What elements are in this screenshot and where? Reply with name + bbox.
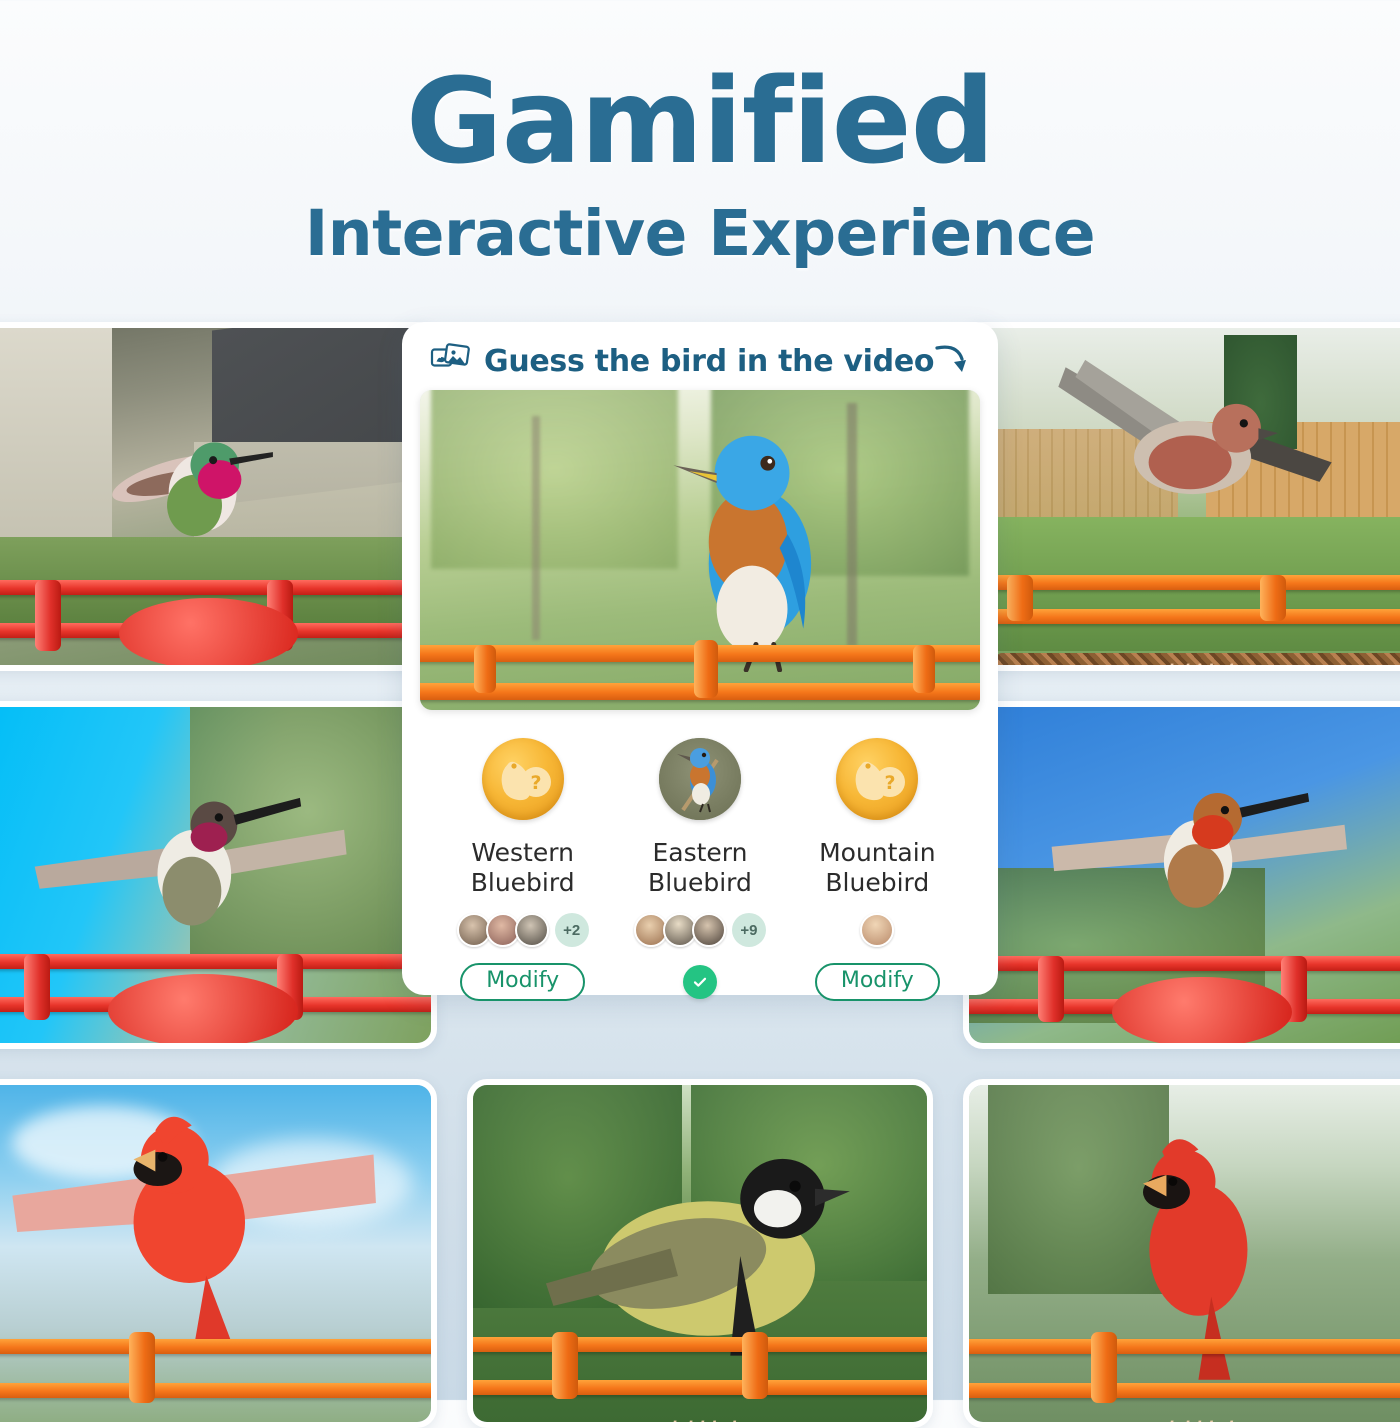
gallery-photo-top-left[interactable]	[0, 322, 437, 671]
bird-option-western-bluebird[interactable]: ? Western Bluebird +2 Modify	[438, 738, 608, 1001]
curved-down-arrow-icon	[934, 340, 974, 387]
voter-avatars[interactable]: +9	[615, 911, 785, 949]
brand-tag: richbird	[661, 1418, 739, 1428]
gallery-photo-bottom-left[interactable]	[0, 1079, 437, 1428]
hummingbird-subject	[3, 761, 376, 970]
bird-option-label: Mountain Bluebird	[792, 838, 962, 897]
gallery-photo-bottom-right[interactable]: richbird	[963, 1079, 1400, 1428]
gallery-photo-middle-left[interactable]	[0, 701, 437, 1050]
bird-name-line1: Eastern	[652, 838, 747, 867]
orange-feeder: richbird	[467, 1328, 934, 1428]
bird-name-line1: Western	[471, 838, 574, 867]
gallery-photo-middle-right[interactable]	[963, 701, 1400, 1050]
selected-check-button[interactable]	[683, 965, 717, 999]
bird-option-mountain-bluebird[interactable]: ? Mountain Bluebird Modify	[792, 738, 962, 1001]
video-player[interactable]	[420, 390, 980, 710]
avatar	[860, 913, 894, 947]
svg-text:?: ?	[885, 772, 896, 794]
bird-options-list: ? Western Bluebird +2 Modify	[420, 738, 980, 1001]
brand-tag: richbird	[1158, 1418, 1236, 1428]
gallery-photo-top-right[interactable]: richbird	[963, 322, 1400, 671]
brand-tag: richbird	[1158, 661, 1236, 671]
gallery-photo-bottom-center[interactable]: richbird	[467, 1079, 934, 1428]
unknown-bird-coin-icon: ?	[482, 738, 564, 820]
red-feeder	[0, 949, 437, 1049]
red-feeder	[963, 949, 1400, 1049]
cardinal-subject	[0, 1106, 403, 1348]
orange-feeder: richbird	[963, 1328, 1400, 1428]
eastern-bluebird-thumbnail	[659, 738, 741, 820]
avatar-overflow-count: +9	[732, 913, 766, 947]
guess-the-bird-card: Guess the bird in the video	[402, 322, 998, 995]
orange-feeder	[0, 1328, 437, 1428]
avatar	[515, 913, 549, 947]
photo-cards-icon	[430, 342, 472, 381]
tree-trunk-shape	[532, 416, 540, 640]
bird-option-eastern-bluebird[interactable]: Eastern Bluebird +9	[615, 738, 785, 999]
modify-button[interactable]: Modify	[815, 963, 940, 1001]
bird-name-line1: Mountain	[819, 838, 935, 867]
card-header: Guess the bird in the video	[420, 338, 980, 384]
voter-avatars[interactable]: +2	[438, 911, 608, 949]
hero-heading: Gamified Interactive Experience	[0, 0, 1400, 265]
page-title: Gamified	[0, 62, 1400, 180]
tree-canopy-shape	[431, 390, 677, 569]
svg-text:?: ?	[530, 772, 541, 794]
avatar-overflow-count: +2	[555, 913, 589, 947]
unknown-bird-coin-icon: ?	[836, 738, 918, 820]
hummingbird-subject	[94, 402, 303, 564]
house-finch-subject	[1024, 355, 1351, 550]
eastern-bluebird-subject	[644, 416, 868, 672]
bird-name-line2: Bluebird	[648, 868, 752, 897]
red-feeder	[0, 570, 437, 670]
modify-button[interactable]: Modify	[460, 963, 585, 1001]
bird-name-line2: Bluebird	[825, 868, 929, 897]
bird-option-label: Eastern Bluebird	[615, 838, 785, 897]
card-title: Guess the bird in the video	[484, 344, 934, 379]
hummingbird-subject	[1015, 754, 1379, 949]
voter-avatars[interactable]	[792, 911, 962, 949]
orange-feeder	[420, 640, 980, 710]
orange-feeder: richbird	[963, 570, 1400, 670]
page-subtitle: Interactive Experience	[0, 202, 1400, 265]
bird-option-label: Western Bluebird	[438, 838, 608, 897]
bird-name-line2: Bluebird	[471, 868, 575, 897]
avatar	[692, 913, 726, 947]
